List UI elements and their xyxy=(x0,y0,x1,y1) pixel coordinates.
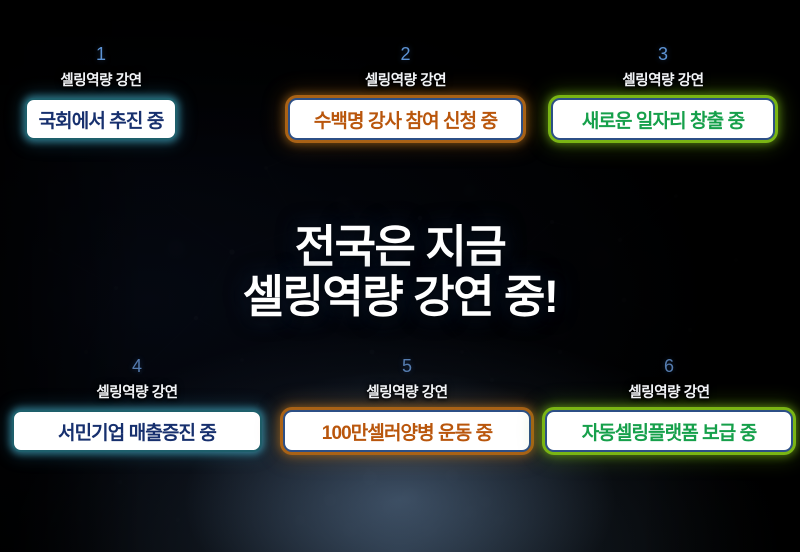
card-sublabel-3: 셀링역량 강연 xyxy=(551,72,775,90)
poster-content: 1 셀링역량 강연 국회에서 추진 중 2 셀링역량 강연 수백명 강사 참여 … xyxy=(0,0,800,552)
card-number-6: 6 xyxy=(545,356,793,376)
card-pill-4[interactable]: 서민기업 매출증진 중 xyxy=(12,410,262,452)
card-sublabel-1: 셀링역량 강연 xyxy=(25,72,177,90)
card-group-6[interactable]: 6 셀링역량 강연 자동셀링플랫폼 보급 중 xyxy=(545,356,793,452)
card-pill-5[interactable]: 100만셀러양병 운동 중 xyxy=(283,410,531,452)
card-pill-6[interactable]: 자동셀링플랫폼 보급 중 xyxy=(545,410,793,452)
card-group-3[interactable]: 3 셀링역량 강연 새로운 일자리 창출 중 xyxy=(551,44,775,140)
headline-line-2: 셀링역량 강연 중! xyxy=(0,272,800,322)
card-sublabel-4: 셀링역량 강연 xyxy=(12,384,262,402)
card-sublabel-5: 셀링역량 강연 xyxy=(283,384,531,402)
card-pill-1[interactable]: 국회에서 추진 중 xyxy=(25,98,177,140)
card-group-1[interactable]: 1 셀링역량 강연 국회에서 추진 중 xyxy=(25,44,177,140)
card-number-4: 4 xyxy=(12,356,262,376)
card-sublabel-2: 셀링역량 강연 xyxy=(288,72,523,90)
card-sublabel-6: 셀링역량 강연 xyxy=(545,384,793,402)
card-pill-2[interactable]: 수백명 강사 참여 신청 중 xyxy=(288,98,523,140)
card-number-5: 5 xyxy=(283,356,531,376)
card-number-2: 2 xyxy=(288,44,523,64)
card-pill-3[interactable]: 새로운 일자리 창출 중 xyxy=(551,98,775,140)
card-number-1: 1 xyxy=(25,44,177,64)
headline-line-1: 전국은 지금 xyxy=(295,221,506,272)
card-group-4[interactable]: 4 셀링역량 강연 서민기업 매출증진 중 xyxy=(12,356,262,452)
card-group-2[interactable]: 2 셀링역량 강연 수백명 강사 참여 신청 중 xyxy=(288,44,523,140)
poster-stage: 1 셀링역량 강연 국회에서 추진 중 2 셀링역량 강연 수백명 강사 참여 … xyxy=(0,0,800,552)
poster-headline: 전국은 지금 셀링역량 강연 중! xyxy=(0,222,800,322)
card-number-3: 3 xyxy=(551,44,775,64)
card-group-5[interactable]: 5 셀링역량 강연 100만셀러양병 운동 중 xyxy=(283,356,531,452)
